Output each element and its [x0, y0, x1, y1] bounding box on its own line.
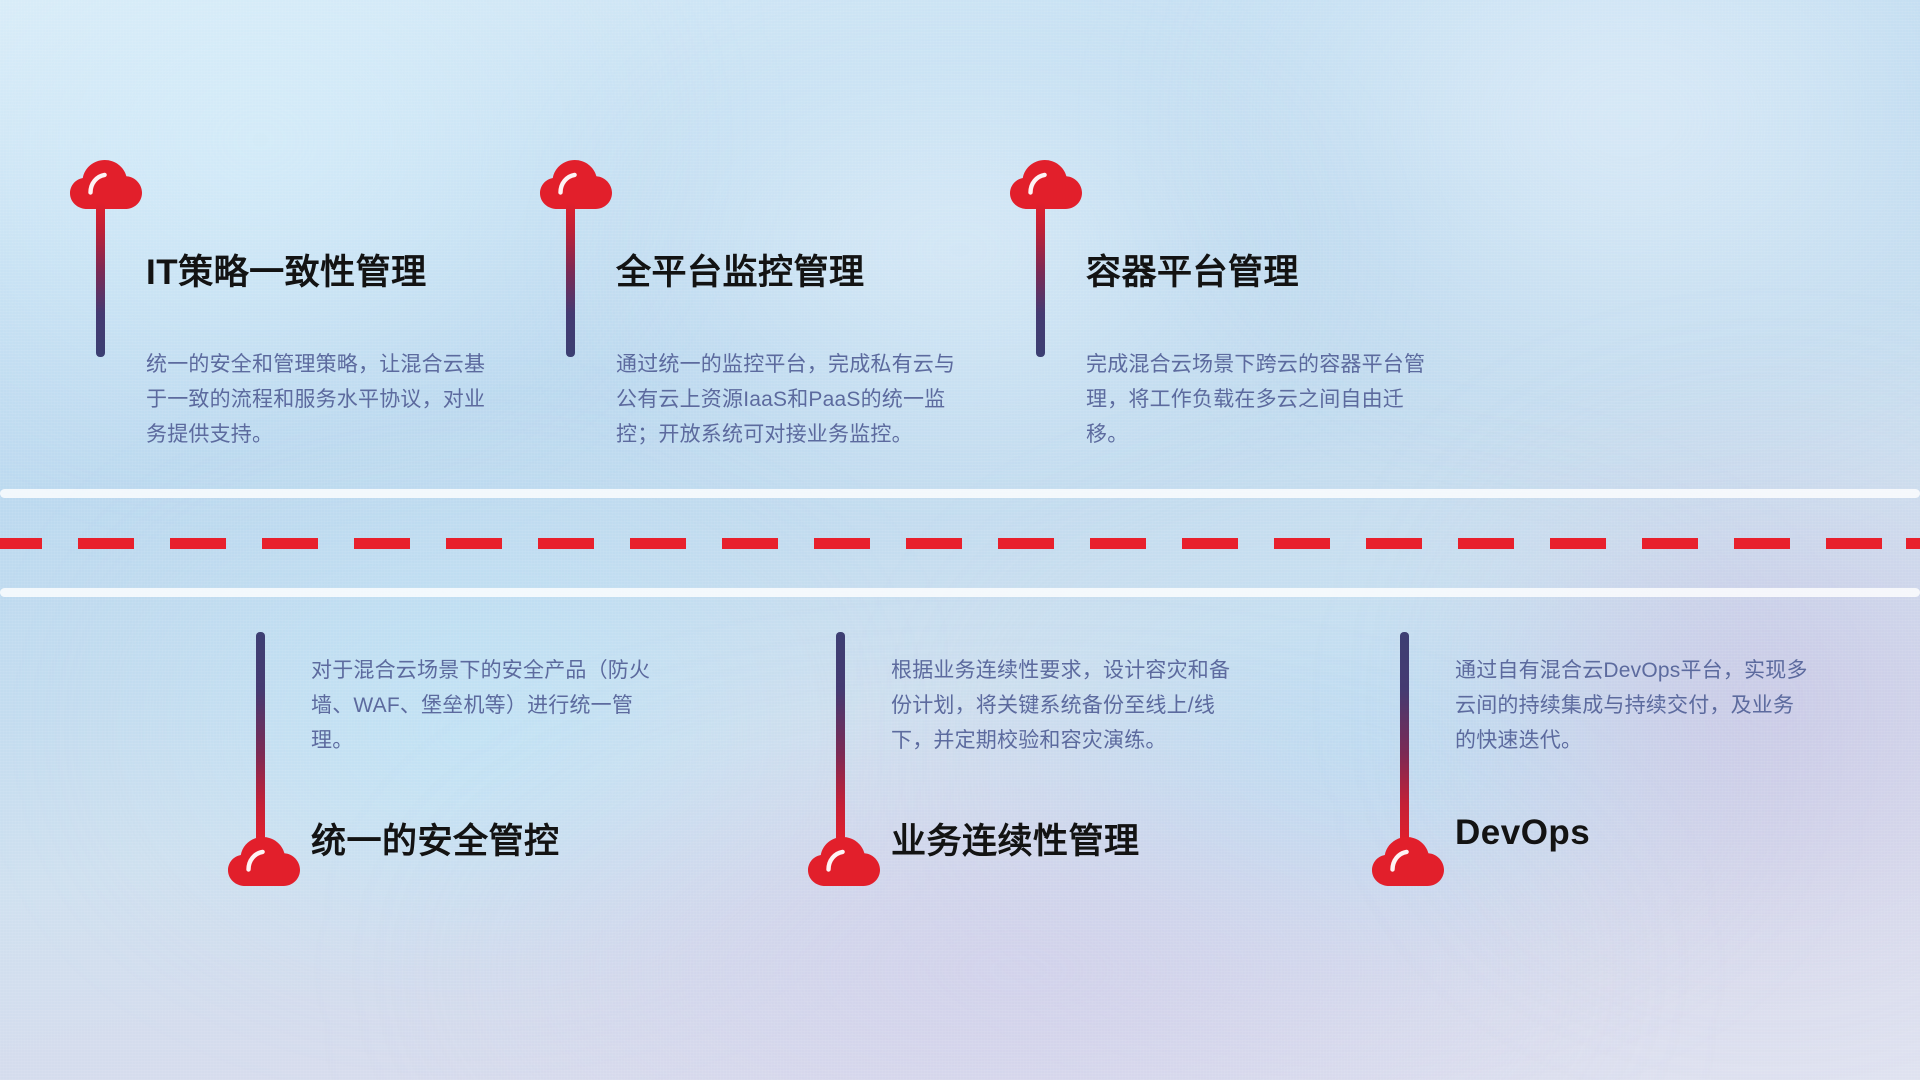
card-body: 通过自有混合云DevOps平台，实现多云间的持续集成与持续交付，及业务的快速迭代… — [1455, 653, 1815, 758]
card-body: 对于混合云场景下的安全产品（防火墙、WAF、堡垒机等）进行统一管理。 — [311, 653, 671, 758]
accent-stem — [566, 202, 575, 357]
cloud-icon — [228, 837, 300, 887]
card-title: 统一的安全管控 — [311, 813, 560, 864]
infographic-canvas: IT策略一致性管理 统一的安全和管理策略，让混合云基于一致的流程和服务水平协议，… — [0, 0, 1920, 1080]
cloud-icon — [70, 160, 142, 210]
accent-stem — [96, 202, 105, 357]
accent-stem — [1400, 632, 1409, 842]
divider-rail-top — [0, 489, 1920, 498]
accent-stem — [836, 632, 845, 842]
card-title: DevOps — [1455, 813, 1590, 853]
card-title: 全平台监控管理 — [616, 244, 865, 295]
card-body: 完成混合云场景下跨云的容器平台管理，将工作负载在多云之间自由迁移。 — [1086, 347, 1446, 452]
card-title: IT策略一致性管理 — [146, 244, 427, 295]
cloud-icon — [1372, 837, 1444, 887]
card-body: 根据业务连续性要求，设计容灾和备份计划，将关键系统备份至线上/线下，并定期校验和… — [891, 653, 1251, 758]
cloud-icon — [808, 837, 880, 887]
accent-stem — [1036, 202, 1045, 357]
card-title: 业务连续性管理 — [891, 813, 1140, 864]
card-title: 容器平台管理 — [1086, 244, 1299, 295]
cloud-icon — [540, 160, 612, 210]
card-body: 统一的安全和管理策略，让混合云基于一致的流程和服务水平协议，对业务提供支持。 — [146, 347, 506, 452]
card-body: 通过统一的监控平台，完成私有云与公有云上资源IaaS和PaaS的统一监控；开放系… — [616, 347, 976, 452]
divider-dashed-line — [0, 535, 1920, 551]
divider-rail-bottom — [0, 588, 1920, 597]
cloud-icon — [1010, 160, 1082, 210]
center-divider — [0, 489, 1920, 597]
accent-stem — [256, 632, 265, 842]
